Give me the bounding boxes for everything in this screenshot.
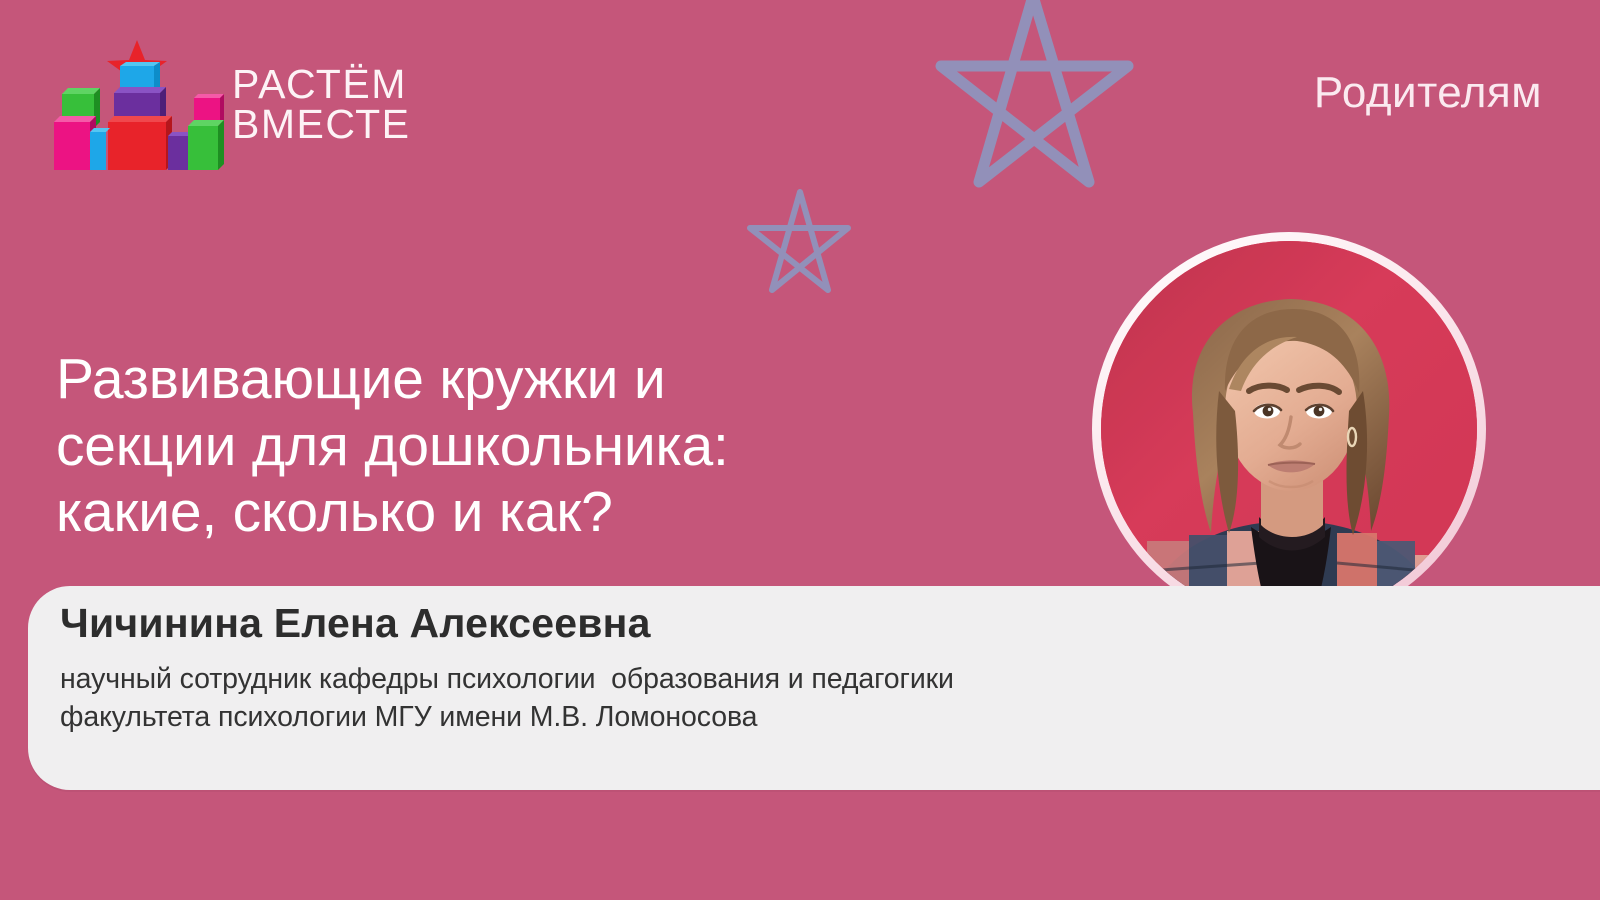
speaker-avatar [1092, 232, 1486, 626]
speaker-name: Чичинина Елена Алексеевна [60, 600, 651, 647]
title-line-3: какие, сколько и как? [56, 479, 1066, 546]
star-small-outline-icon [722, 182, 874, 310]
brand-logo: РАСТЁМ ВМЕСТЕ [48, 36, 411, 172]
star-large-outline-icon [885, 0, 1175, 222]
logo-wordmark: РАСТЁМ ВМЕСТЕ [232, 64, 411, 144]
presentation-slide: РАСТЁМ ВМЕСТЕ Родителям Развивающие круж… [0, 0, 1600, 900]
audience-kicker: Родителям [1314, 68, 1542, 118]
credentials-line-1: научный сотрудник кафедры психологии обр… [60, 661, 954, 699]
credentials-line-2: факультета психологии МГУ имени М.В. Лом… [60, 699, 954, 737]
speaker-info-card: Чичинина Елена Алексеевна научный сотруд… [28, 586, 1600, 790]
speaker-credentials: научный сотрудник кафедры психологии обр… [60, 661, 954, 737]
page-title: Развивающие кружки и секции для дошкольн… [56, 346, 1066, 546]
avatar-image [1101, 241, 1477, 617]
title-line-2: секции для дошкольника: [56, 413, 1066, 480]
title-line-1: Развивающие кружки и [56, 346, 1066, 413]
logo-blocks-icon [48, 36, 226, 172]
